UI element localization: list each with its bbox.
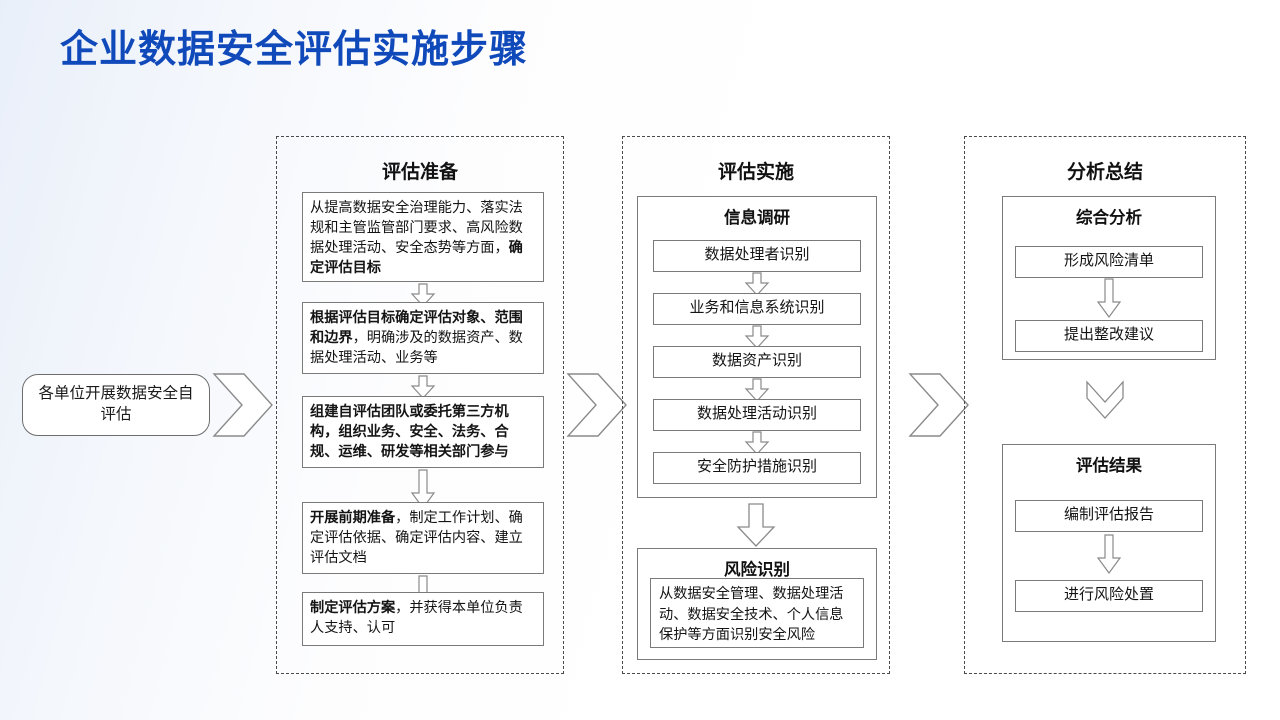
result-arrow-1 — [1096, 534, 1122, 574]
risk-note-text: 从数据安全管理、数据处理活动、数据安全技术、个人信息保护等方面识别安全风险 — [659, 586, 843, 643]
stage-heading-summary: 分析总结 — [965, 157, 1245, 184]
start-node: 各单位开展数据安全自评估 — [22, 374, 210, 436]
sub-panel-heading-analysis: 综合分析 — [1003, 204, 1215, 228]
survey-item-5: 安全防护措施识别 — [653, 452, 861, 484]
analysis-item-2-label: 提出整改建议 — [1064, 325, 1154, 346]
survey-item-4-label: 数据处理活动识别 — [697, 404, 817, 425]
risk-note-box: 从数据安全管理、数据处理活动、数据安全技术、个人信息保护等方面识别安全风险 — [650, 578, 864, 648]
step-box-preliminary: 开展前期准备，制定工作计划、确定评估依据、确定评估内容、建立评估文档 — [302, 502, 544, 574]
step-text-objective: 从提高数据安全治理能力、落实法规和主管监管部门要求、高风险数据处理活动、安全态势… — [310, 200, 523, 276]
survey-item-3: 数据资产识别 — [653, 346, 861, 378]
result-item-2: 进行风险处置 — [1015, 580, 1203, 612]
result-item-1-label: 编制评估报告 — [1064, 505, 1154, 526]
stage-arrow-to-summary — [908, 372, 970, 438]
analysis-item-1-label: 形成风险清单 — [1064, 251, 1154, 272]
step-text-scope: 根据评估目标确定评估对象、范围和边界，明确涉及的数据资产、数据处理活动、业务等 — [310, 310, 523, 366]
result-item-1: 编制评估报告 — [1015, 500, 1203, 532]
analysis-arrow-1 — [1096, 278, 1122, 318]
survey-item-4: 数据处理活动识别 — [653, 399, 861, 431]
sub-panel-heading-survey: 信息调研 — [638, 204, 876, 228]
step-text-plan: 制定评估方案，并获得本单位负责人支持、认可 — [310, 600, 523, 636]
sub-panel-heading-risk: 风险识别 — [638, 556, 876, 580]
survey-item-3-label: 数据资产识别 — [712, 351, 802, 372]
analysis-item-2: 提出整改建议 — [1015, 320, 1203, 352]
implementation-sub-arrow — [736, 503, 776, 547]
result-item-2-label: 进行风险处置 — [1064, 585, 1154, 606]
survey-item-5-label: 安全防护措施识别 — [697, 457, 817, 478]
survey-item-2: 业务和信息系统识别 — [653, 293, 861, 325]
stage-arrow-to-preparation — [212, 372, 274, 438]
stage-heading-implementation: 评估实施 — [623, 157, 889, 184]
sub-panel-heading-result: 评估结果 — [1003, 452, 1215, 476]
survey-item-1: 数据处理者识别 — [653, 240, 861, 272]
step-box-team: 组建自评估团队或委托第三方机构，组织业务、安全、法务、合规、运维、研发等相关部门… — [302, 396, 544, 468]
start-node-label: 各单位开展数据安全自评估 — [33, 384, 199, 426]
survey-item-2-label: 业务和信息系统识别 — [689, 298, 824, 319]
stage-arrow-to-implementation — [566, 372, 628, 438]
page-title: 企业数据安全评估实施步骤 — [60, 18, 528, 73]
step-text-preliminary: 开展前期准备，制定工作计划、确定评估依据、确定评估内容、建立评估文档 — [310, 510, 523, 566]
slide-canvas: 企业数据安全评估实施步骤 各单位开展数据安全自评估 评估准备 从提高数据安全治理… — [0, 0, 1280, 720]
step-text-team: 组建自评估团队或委托第三方机构，组织业务、安全、法务、合规、运维、研发等相关部门… — [310, 404, 509, 460]
step-box-objective: 从提高数据安全治理能力、落实法规和主管监管部门要求、高风险数据处理活动、安全态势… — [302, 192, 544, 282]
analysis-item-1: 形成风险清单 — [1015, 246, 1203, 278]
summary-sub-arrow — [1085, 378, 1125, 422]
stage-heading-preparation: 评估准备 — [277, 157, 563, 184]
step-box-plan: 制定评估方案，并获得本单位负责人支持、认可 — [302, 592, 544, 646]
survey-item-1-label: 数据处理者识别 — [704, 245, 809, 266]
step-box-scope: 根据评估目标确定评估对象、范围和边界，明确涉及的数据资产、数据处理活动、业务等 — [302, 302, 544, 374]
